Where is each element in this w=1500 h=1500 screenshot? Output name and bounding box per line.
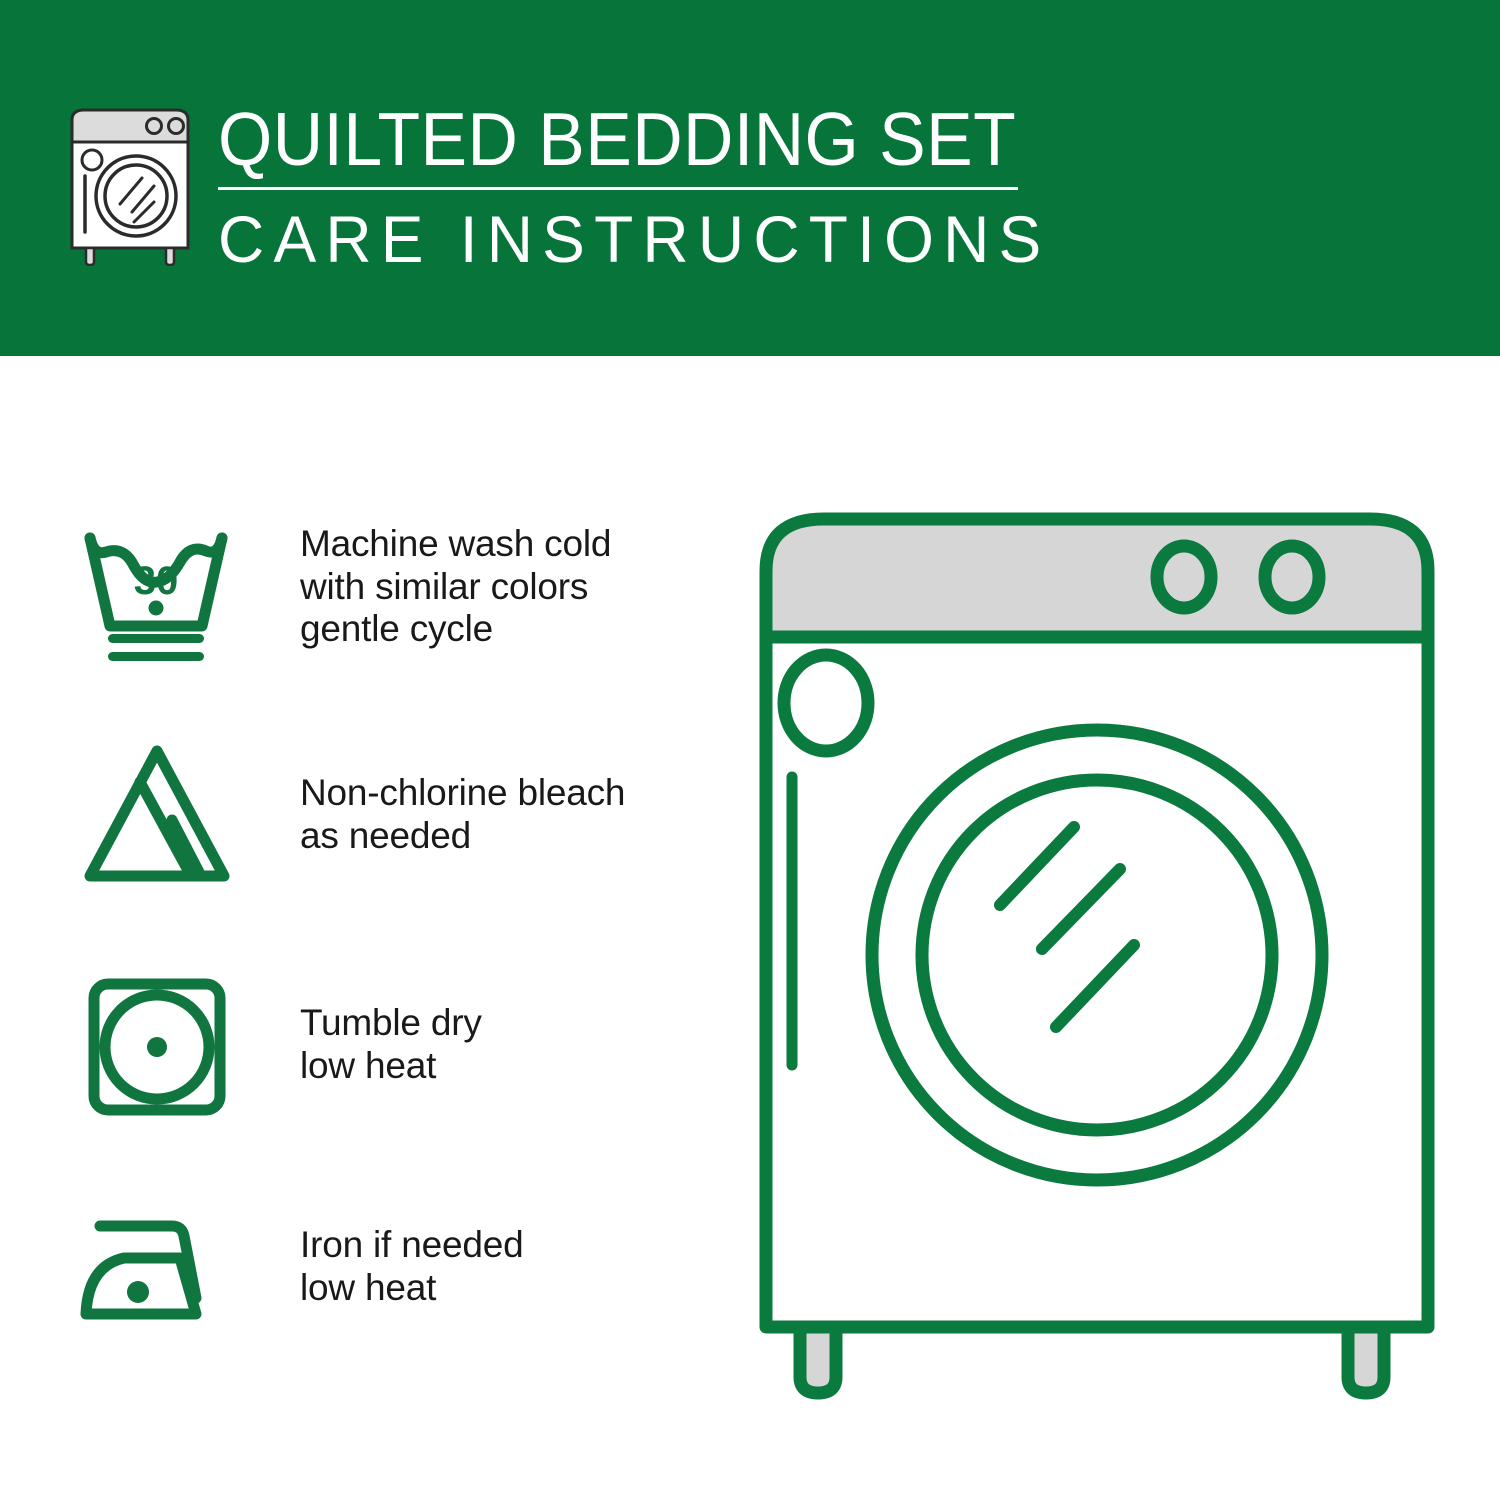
care-label-bleach: Non-chlorine bleach as needed: [300, 772, 625, 857]
page-title: QUILTED BEDDING SET: [218, 100, 971, 178]
machine-wash-30-gentle-symbol: 30: [72, 508, 242, 668]
care-label-iron: Iron if needed low heat: [300, 1224, 523, 1309]
wash-temperature-value: 30: [134, 559, 179, 603]
care-label-line: gentle cycle: [300, 608, 611, 651]
care-label-line: low heat: [300, 1045, 482, 1088]
iron-low-heat-symbol: [72, 1192, 242, 1352]
care-label-wash: Machine wash cold with similar colors ge…: [300, 523, 611, 651]
care-label-line: as needed: [300, 815, 625, 858]
care-label-line: Iron if needed: [300, 1224, 523, 1267]
washer-leg-left: [800, 1325, 836, 1393]
tumble-dry-low-heat-symbol: [72, 964, 242, 1124]
header-text-block: QUILTED BEDDING SET CARE INSTRUCTIONS: [218, 100, 1028, 274]
non-chlorine-bleach-triangle-symbol: [72, 734, 242, 894]
washer-control-panel: [766, 519, 1428, 637]
washing-machine-icon: [62, 104, 198, 266]
care-label-tumble-dry: Tumble dry low heat: [300, 1002, 482, 1087]
care-label-line: Non-chlorine bleach: [300, 772, 625, 815]
header-banner: QUILTED BEDDING SET CARE INSTRUCTIONS: [0, 0, 1500, 356]
washer-leg-right: [1348, 1325, 1384, 1393]
page-subtitle: CARE INSTRUCTIONS: [218, 204, 1004, 274]
care-instructions-page: QUILTED BEDDING SET CARE INSTRUCTIONS 30: [0, 0, 1500, 1500]
care-label-line: with similar colors: [300, 566, 611, 609]
care-label-line: Tumble dry: [300, 1002, 482, 1045]
care-label-line: low heat: [300, 1267, 523, 1310]
front-load-washing-machine-illustration: [752, 505, 1442, 1405]
title-divider: [218, 187, 1018, 190]
care-symbol-list: 30 Machine wash cold with similar colors…: [0, 356, 740, 1500]
care-label-line: Machine wash cold: [300, 523, 611, 566]
